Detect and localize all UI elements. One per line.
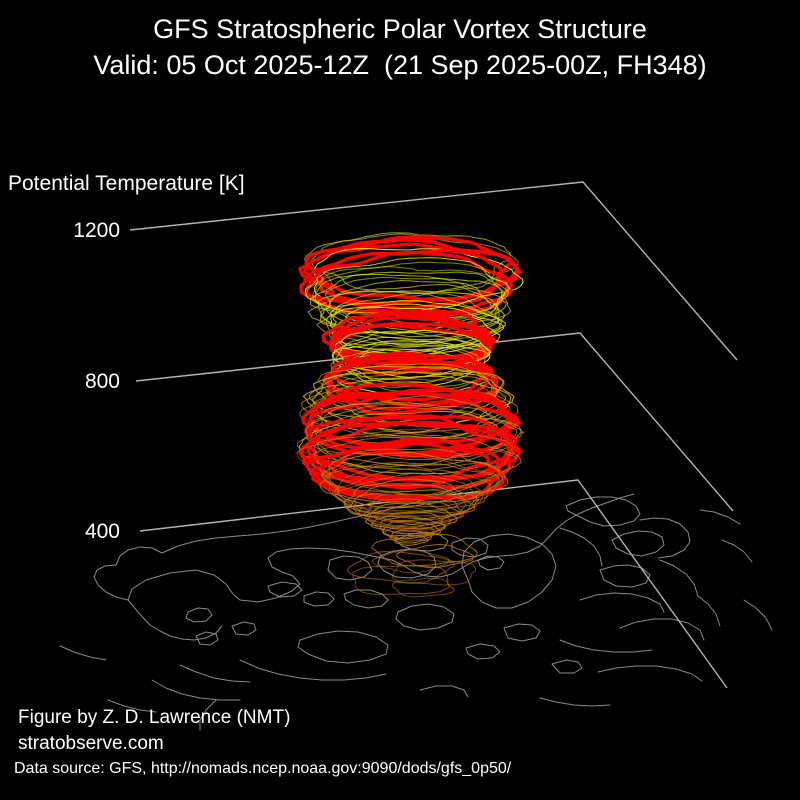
credit-website: stratobserve.com [18, 733, 164, 755]
credit-author: Figure by Z. D. Lawrence (NMT) [18, 707, 290, 729]
figure-title-line1: GFS Stratospheric Polar Vortex Structure [0, 14, 800, 45]
figure-canvas: GFS Stratospheric Polar Vortex Structure… [0, 0, 800, 800]
plot-svg [0, 0, 800, 800]
figure-title-line2: Valid: 05 Oct 2025-12Z (21 Sep 2025-00Z,… [0, 50, 800, 81]
credit-data-source: Data source: GFS, http://nomads.ncep.noa… [14, 760, 511, 778]
z-tick-label-800: 800 [10, 370, 120, 394]
z-axis-label: Potential Temperature [K] [8, 172, 245, 196]
vortex-contours [297, 233, 524, 597]
z-tick-label-400: 400 [10, 520, 120, 544]
coastline-map [60, 488, 772, 730]
z-tick-label-1200: 1200 [10, 219, 120, 243]
